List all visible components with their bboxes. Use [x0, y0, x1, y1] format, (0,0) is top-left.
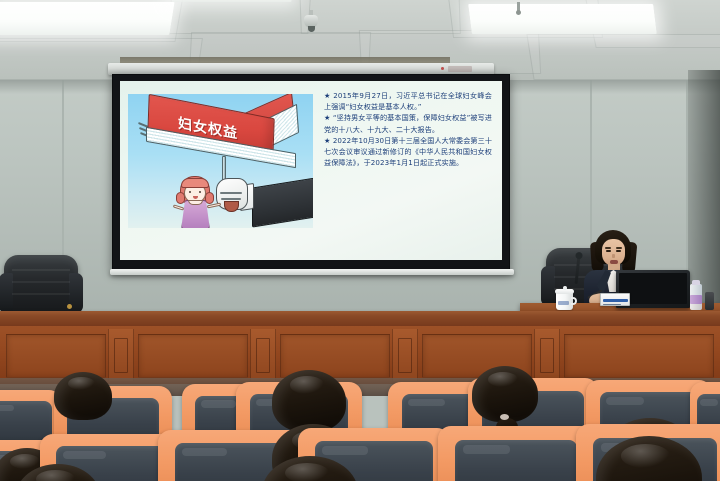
tea-mug: [556, 288, 576, 310]
ceiling-light-panel: [172, 0, 293, 2]
dais-pilaster: [392, 329, 418, 381]
ceiling-tile: [299, 0, 461, 34]
screen-surface: 妇女权益: [120, 81, 502, 260]
slide-illustration: 妇女权益: [128, 94, 313, 228]
water-bottle: [690, 280, 702, 310]
desk-device: [705, 292, 714, 310]
lecture-hall-photo: 妇女权益: [0, 0, 720, 481]
ceiling-light-panel: [0, 2, 175, 35]
dais-wood-panel: [564, 334, 714, 378]
girl-figure-icon: [174, 176, 220, 228]
audience-head: [272, 370, 346, 432]
slide-text-block: ★ 2015年9月27日，习近平总书记在全球妇女峰会上强调“妇女权益是基本人权。…: [322, 88, 494, 253]
hair-tie: [500, 414, 509, 420]
slide-paragraph-1: ★ 2015年9月27日，习近平总书记在全球妇女峰会上强调“妇女权益是基本人权。…: [324, 90, 492, 112]
dais-wood-panel: [6, 334, 106, 378]
chair-knob: [67, 304, 72, 309]
housing-label: [448, 66, 472, 72]
audience-head: [54, 372, 112, 420]
audience-seat: [438, 426, 594, 481]
sprinkler-icon: [516, 2, 521, 16]
projection-screen: 妇女权益: [112, 74, 510, 270]
nameplate-card: [600, 293, 630, 306]
dais-pilaster: [108, 329, 134, 381]
dais-pilaster: [534, 329, 560, 381]
slide-paragraph-2: ★ “坚持男女平等的基本国策，保障妇女权益”被写进党的十八大、十九大、二十大报告…: [324, 112, 492, 134]
screen-weight-bar: [110, 269, 514, 275]
dais-chair-left: [4, 255, 78, 315]
presentation-slide: 妇女权益: [120, 81, 502, 260]
book-umbrella-icon: 妇女权益: [144, 106, 302, 162]
ceiling-tile: [168, 0, 311, 34]
ceiling-light-panel: [468, 4, 657, 34]
dais-wood-panel: [138, 334, 248, 378]
dome-camera-icon: [304, 10, 318, 33]
arm-sleeve: [252, 176, 313, 227]
slide-paragraph-3: ★ 2022年10月30日第十三届全国人大常委会第三十七次会议审议通过新修订的《…: [324, 135, 492, 169]
status-led-icon: [441, 67, 444, 70]
dais-counter-top: [0, 311, 720, 327]
dais-pilaster: [250, 329, 276, 381]
